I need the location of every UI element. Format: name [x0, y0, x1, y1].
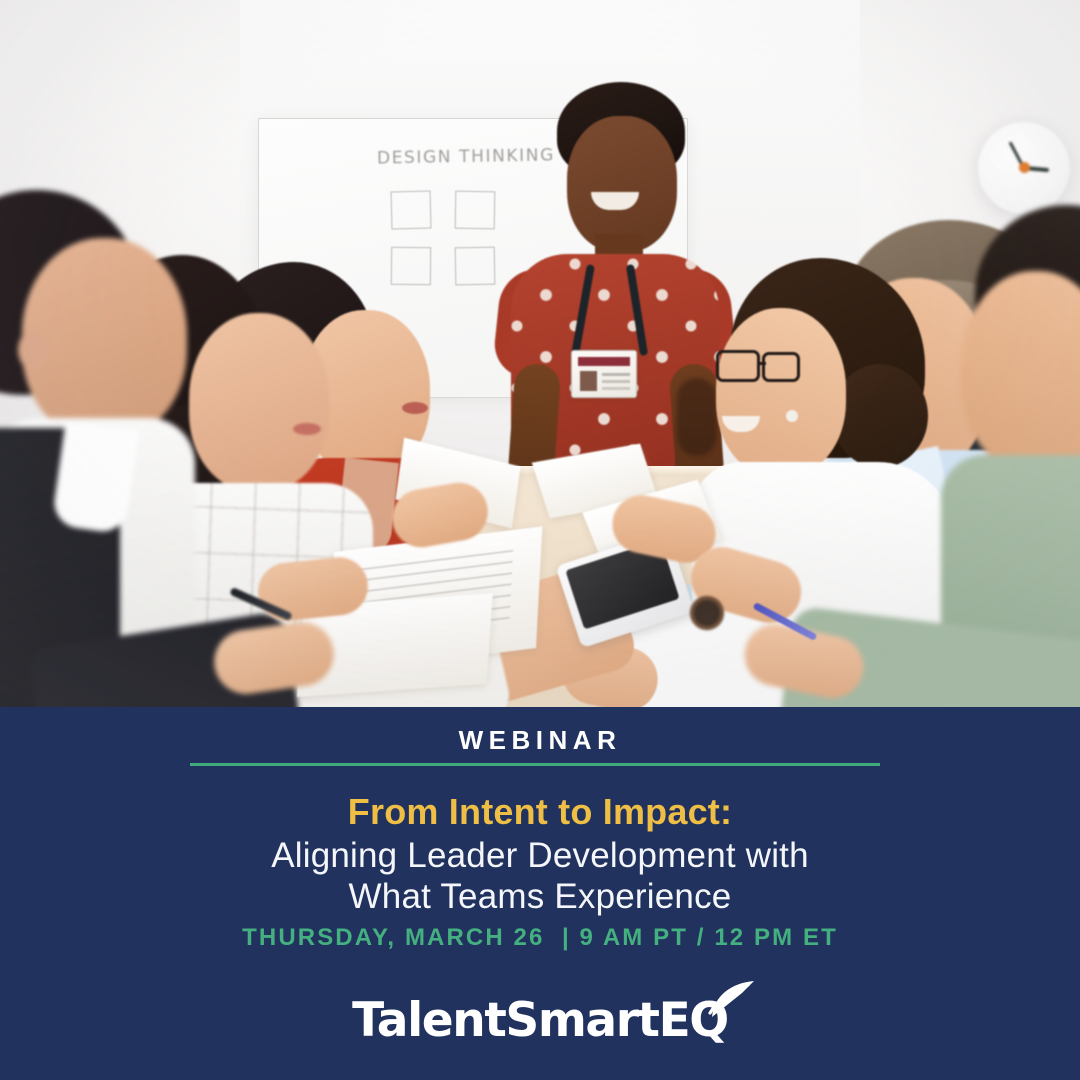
badge-photo [580, 371, 597, 391]
eyeglasses-lens-left [716, 350, 760, 382]
webinar-poster: DESIGN THINKING [0, 0, 1080, 1080]
whiteboard-box [391, 190, 432, 229]
logo-wordmark: TalentSmartEQ [352, 993, 728, 1048]
badge-header-strip [578, 357, 630, 366]
clock-center-pin [1019, 162, 1030, 173]
green-divider [190, 763, 880, 766]
webinar-info-band: WEBINAR From Intent to Impact: Aligning … [0, 707, 1080, 1080]
eyeglasses-lens-right [762, 352, 800, 382]
webinar-subtitle-line-2: What Teams Experience [0, 876, 1080, 917]
whiteboard-box [455, 191, 496, 230]
webinar-subtitle: Aligning Leader Development with What Te… [0, 835, 1080, 917]
person-green-shirt [975, 205, 1080, 710]
person-dark-suit [0, 190, 260, 710]
talentsmarteq-logo[interactable]: TalentSmartEQ [0, 985, 1080, 1055]
presenter-face [567, 116, 677, 252]
person-lips [402, 402, 428, 414]
meeting-room-photo: DESIGN THINKING [0, 0, 1080, 710]
wall-clock-icon [978, 122, 1070, 214]
eyeglasses-bridge [758, 362, 766, 365]
person-face [716, 308, 846, 476]
person-earring [786, 410, 798, 422]
id-badge [571, 350, 637, 398]
person-ear [18, 330, 48, 370]
badge-text-lines [602, 373, 630, 376]
swoosh-arrow-icon [708, 977, 762, 1021]
webinar-subtitle-line-1: Aligning Leader Development with [0, 835, 1080, 876]
person-face [22, 238, 187, 438]
webinar-title-highlight: From Intent to Impact: [0, 791, 1080, 833]
eyebrow-label: WEBINAR [0, 725, 1080, 756]
person-hair-bun [832, 364, 928, 468]
webinar-datetime: THURSDAY, MARCH 26 | 9 AM PT / 12 PM ET [0, 924, 1080, 952]
person-lips [293, 423, 321, 435]
